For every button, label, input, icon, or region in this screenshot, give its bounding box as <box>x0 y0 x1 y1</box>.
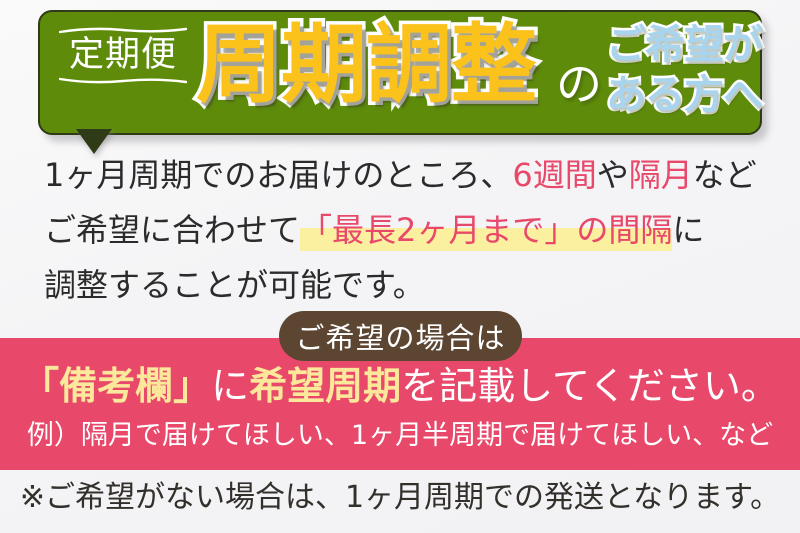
promo-banner: 定期便 周期調整 の ご希望が ある方へ 1ヶ月周期でのお届けのところ、6週間や… <box>0 0 800 533</box>
body-line-1: 1ヶ月周期でのお届けのところ、6週間や隔月など <box>44 148 774 203</box>
body-line-1-emphasis-2: 隔月 <box>629 156 693 194</box>
body-line-2-highlight-1: 「最長2ヶ月まで」 <box>300 211 576 251</box>
target-audience-line-1: ご希望が <box>606 20 766 70</box>
body-paragraph: 1ヶ月周期でのお届けのところ、6週間や隔月など ご希望に合わせて「最長2ヶ月まで… <box>44 148 774 313</box>
footer-note: ※ご希望がない場合は、1ヶ月周期での発送となります。 <box>0 481 800 514</box>
title-particle: の <box>556 48 602 114</box>
speech-bubble-tail-icon <box>78 131 110 153</box>
body-line-2-text-b: に <box>672 211 704 249</box>
body-line-2-text-a: ご希望に合わせて <box>44 211 300 249</box>
wavy-line-bottom-icon <box>59 76 187 85</box>
target-audience-line-2: ある方へ <box>606 70 766 120</box>
body-line-3: 調整することが可能です。 <box>44 258 774 313</box>
pink-headline-text-a: に <box>211 364 249 408</box>
body-line-2-highlight-mid: の <box>576 211 608 251</box>
body-line-1-text-a: 1ヶ月周期でのお届けのところ、 <box>44 156 512 194</box>
pink-headline: 「備考欄」に希望周期を記載してください。 <box>0 366 800 408</box>
wavy-line-top-icon <box>59 26 187 35</box>
target-audience-label: ご希望が ある方へ <box>606 20 766 121</box>
pink-headline-emphasis-2: 希望周期 <box>249 364 401 408</box>
body-line-1-emphasis-1: 6週間 <box>512 156 596 194</box>
request-case-badge-label: ご希望の場合は <box>295 315 505 357</box>
body-line-2-highlight-2: 間隔 <box>608 211 672 251</box>
request-case-badge: ご希望の場合は <box>279 311 522 361</box>
body-line-1-text-b: や <box>597 156 629 194</box>
body-line-1-text-c: など <box>693 156 757 194</box>
subscription-badge: 定期便 <box>56 26 190 85</box>
page-title: 周期調整 <box>196 13 536 118</box>
body-line-2: ご希望に合わせて「最長2ヶ月まで」の間隔に <box>44 203 774 258</box>
subscription-badge-label: 定期便 <box>56 35 190 76</box>
pink-headline-emphasis-1: 「備考欄」 <box>21 364 211 408</box>
pink-example-text: 例）隔月で届けてほしい、1ヶ月半周期で届けてほしい、など <box>0 421 800 451</box>
body-line-3-text-a: 調整することが可能です。 <box>44 266 425 304</box>
pink-headline-text-b: を記載してください。 <box>401 364 779 408</box>
